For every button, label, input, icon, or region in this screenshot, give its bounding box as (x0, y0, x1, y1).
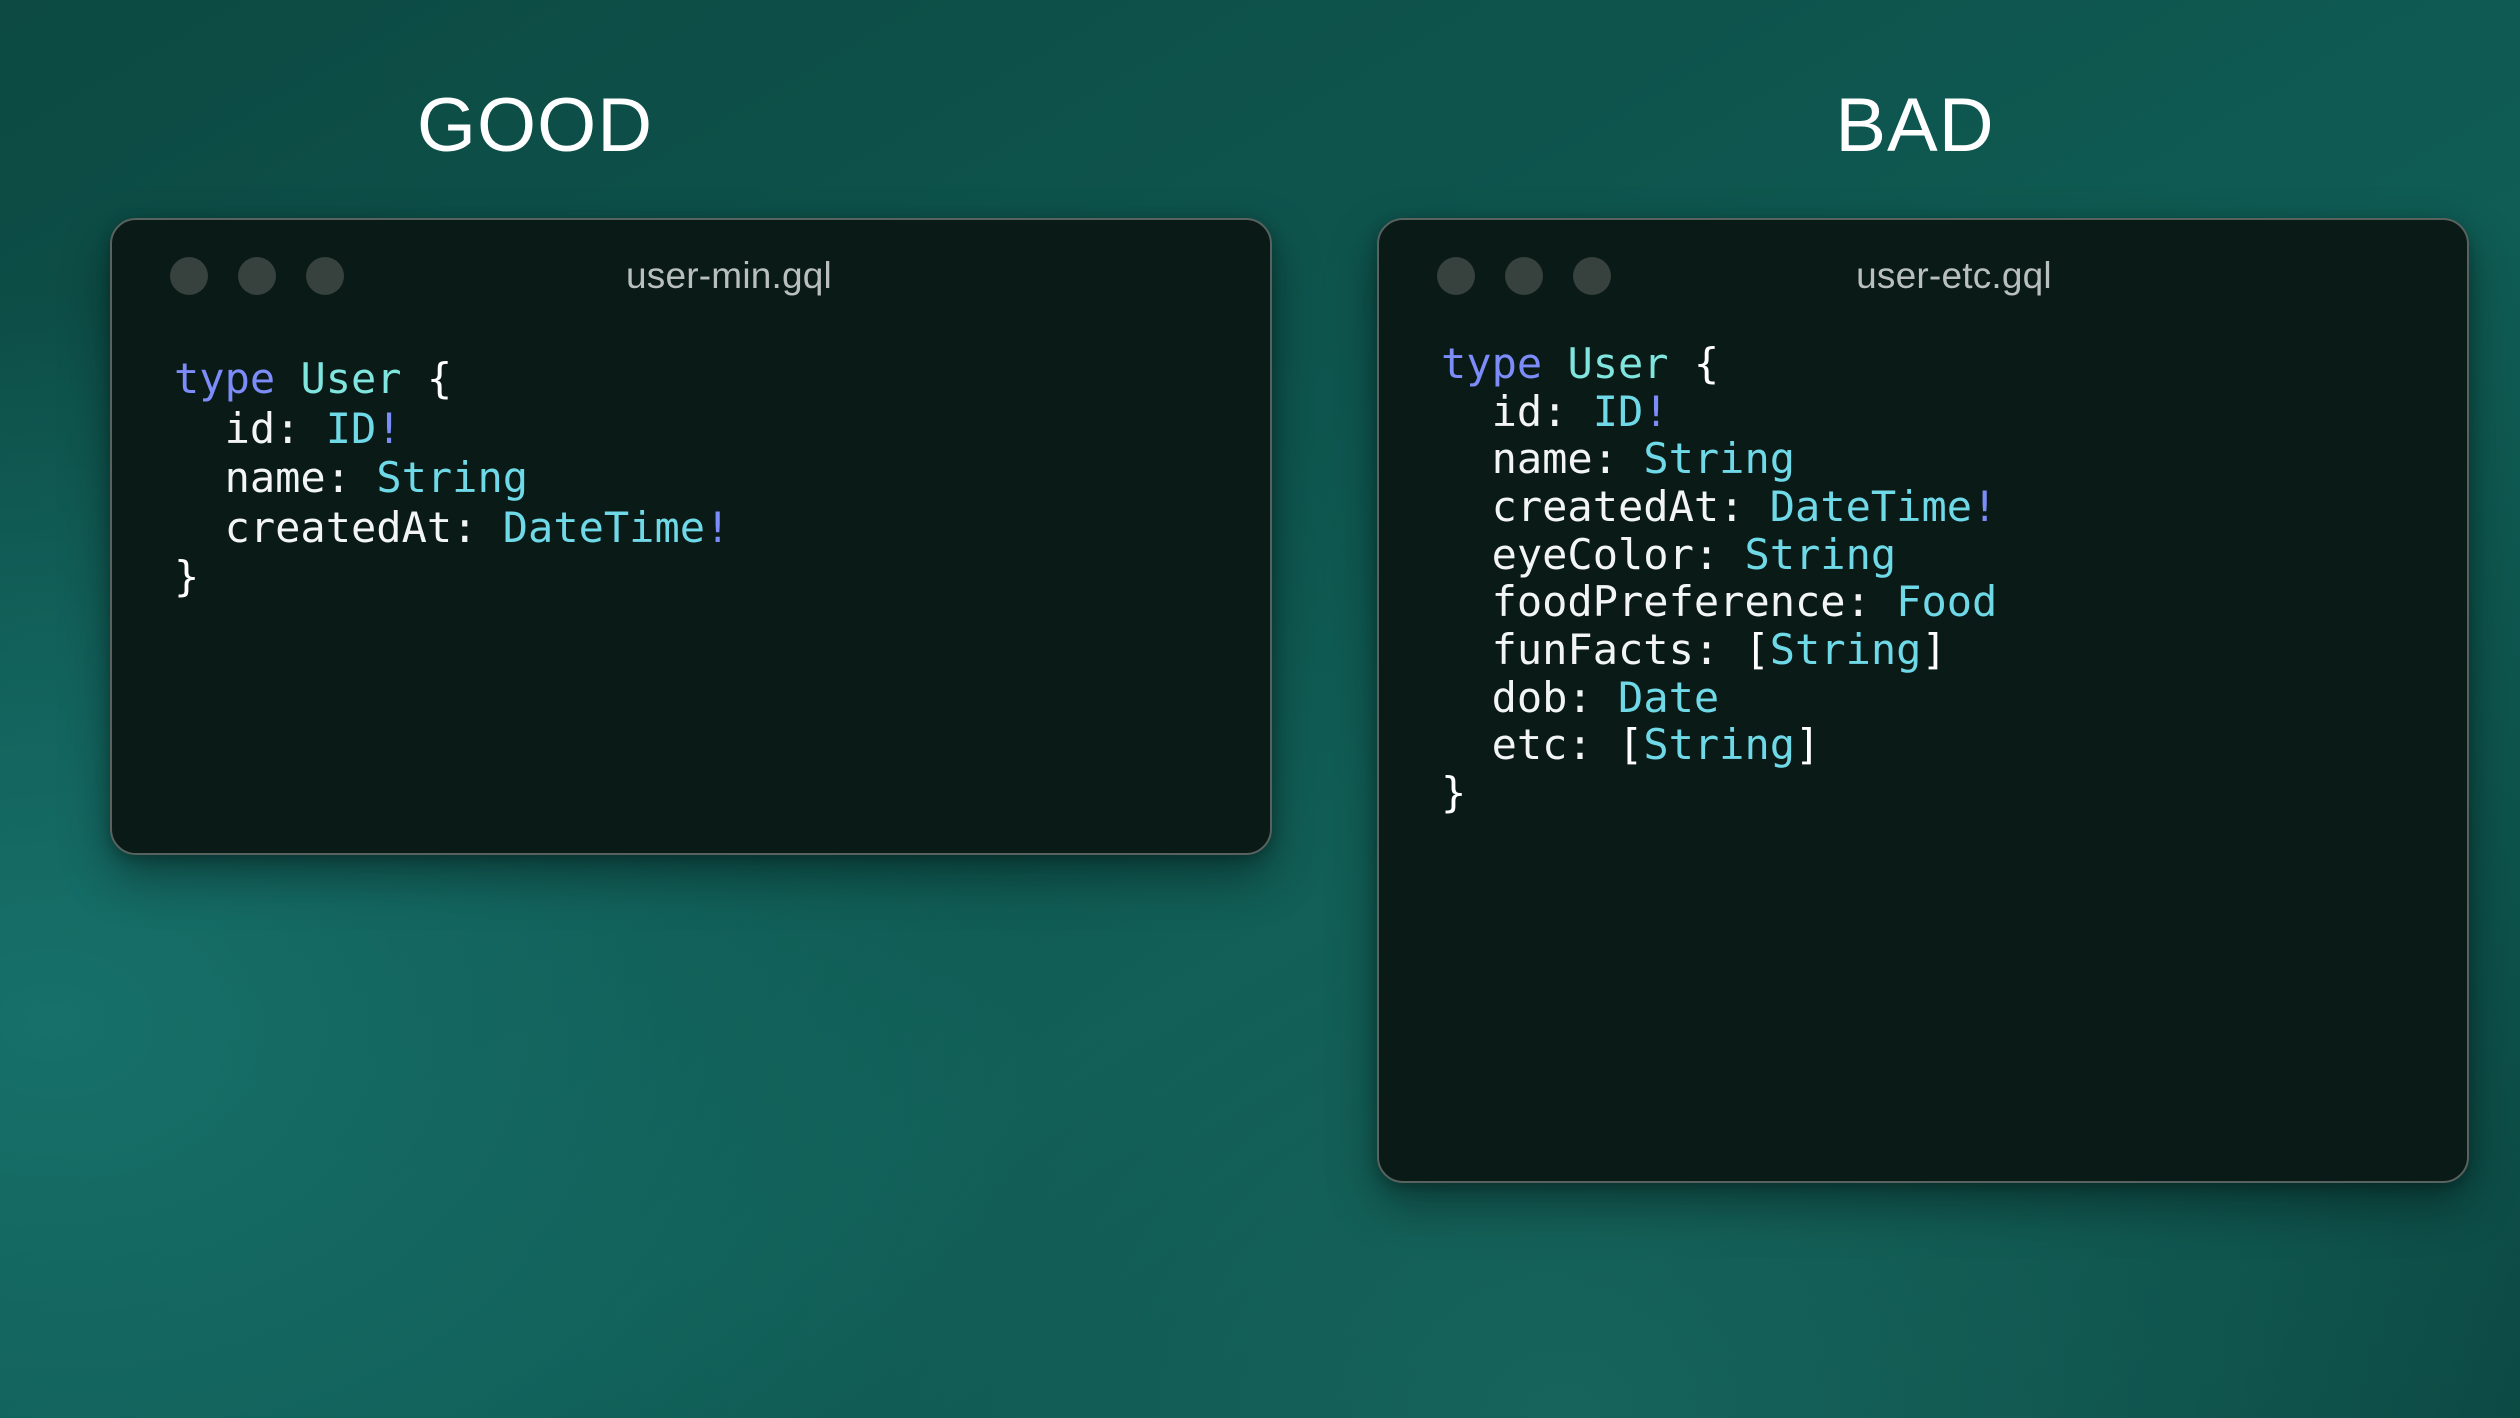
code-token-plain (1567, 387, 1592, 436)
code-line: funFacts: [String] (1441, 626, 2467, 674)
code-token-punct: } (1441, 768, 1466, 817)
code-line: type User { (174, 354, 1270, 404)
code-token-plain (1719, 530, 1744, 579)
code-token-plain (300, 404, 325, 453)
maximize-dot-icon[interactable] (306, 257, 344, 295)
code-token-field: etc: (1492, 720, 1593, 769)
code-token-type: Food (1896, 577, 1997, 626)
code-token-bracket: [ (1744, 625, 1769, 674)
code-line: type User { (1441, 340, 2467, 388)
bad-window-titlebar: user-etc.gql (1379, 220, 2467, 332)
code-token-type: Date (1618, 673, 1719, 722)
good-code-window: user-min.gql type User { id: ID! name: S… (110, 218, 1272, 855)
code-token-type: ID (326, 404, 377, 453)
code-token-type: ID (1593, 387, 1644, 436)
close-dot-icon[interactable] (170, 257, 208, 295)
code-token-plain (1744, 482, 1769, 531)
code-token-bang: ! (376, 404, 401, 453)
code-line: eyeColor: String (1441, 531, 2467, 579)
code-token-field: createdAt: (1492, 482, 1745, 531)
code-line: createdAt: DateTime! (174, 503, 1270, 553)
code-token-type: String (1643, 434, 1795, 483)
code-token-field: name: (1492, 434, 1618, 483)
code-token-punct: } (174, 552, 199, 601)
code-token-field: id: (225, 404, 301, 453)
code-token-plain (402, 354, 427, 403)
code-token-keyword: type (174, 354, 275, 403)
code-token-bracket: ] (1795, 720, 1820, 769)
code-token-keyword: type (1441, 339, 1542, 388)
code-line: createdAt: DateTime! (1441, 483, 2467, 531)
code-token-field: foodPreference: (1492, 577, 1871, 626)
code-token-type: String (1744, 530, 1896, 579)
minimize-dot-icon[interactable] (238, 257, 276, 295)
code-token-type: DateTime (503, 503, 705, 552)
comparison-stage: GOOD BAD user-min.gql type User { id: ID… (0, 0, 2520, 1418)
code-token-type: String (376, 453, 528, 502)
code-token-bracket: ] (1921, 625, 1946, 674)
code-line: id: ID! (1441, 388, 2467, 436)
code-token-bracket: [ (1618, 720, 1643, 769)
code-token-punct: { (1694, 339, 1719, 388)
code-line: } (174, 552, 1270, 602)
minimize-dot-icon[interactable] (1505, 257, 1543, 295)
code-token-field: eyeColor: (1492, 530, 1720, 579)
bad-code-window: user-etc.gql type User { id: ID! name: S… (1377, 218, 2469, 1183)
code-line: etc: [String] (1441, 721, 2467, 769)
code-token-field: createdAt: (225, 503, 478, 552)
code-token-plain (351, 453, 376, 502)
code-token-type: String (1770, 625, 1922, 674)
code-token-field: id: (1492, 387, 1568, 436)
code-line: name: String (1441, 435, 2467, 483)
close-dot-icon[interactable] (1437, 257, 1475, 295)
code-token-plain (1669, 339, 1694, 388)
code-token-plain (1542, 339, 1567, 388)
code-token-plain (1719, 625, 1744, 674)
code-line: id: ID! (174, 404, 1270, 454)
bad-code-block: type User { id: ID! name: String created… (1379, 332, 2467, 817)
code-token-plain (1871, 577, 1896, 626)
code-token-typename: User (1567, 339, 1668, 388)
code-line: dob: Date (1441, 674, 2467, 722)
code-token-plain (1593, 720, 1618, 769)
code-line: } (1441, 769, 2467, 817)
code-token-bang: ! (1643, 387, 1668, 436)
code-line: name: String (174, 453, 1270, 503)
code-token-field: name: (225, 453, 351, 502)
code-line: foodPreference: Food (1441, 578, 2467, 626)
maximize-dot-icon[interactable] (1573, 257, 1611, 295)
code-token-field: funFacts: (1492, 625, 1720, 674)
good-window-titlebar: user-min.gql (112, 220, 1270, 332)
code-token-plain (275, 354, 300, 403)
code-token-plain (1618, 434, 1643, 483)
code-token-punct: { (427, 354, 452, 403)
good-code-block: type User { id: ID! name: String created… (112, 332, 1270, 602)
good-window-filename: user-min.gql (188, 255, 1270, 297)
code-token-typename: User (300, 354, 401, 403)
code-token-bang: ! (705, 503, 730, 552)
good-heading: GOOD (417, 88, 653, 164)
code-token-type: DateTime (1770, 482, 1972, 531)
code-token-type: String (1643, 720, 1795, 769)
bad-heading: BAD (1835, 88, 1994, 164)
code-token-plain (1593, 673, 1618, 722)
code-token-bang: ! (1972, 482, 1997, 531)
good-traffic-lights (170, 257, 344, 295)
code-token-plain (477, 503, 502, 552)
bad-traffic-lights (1437, 257, 1611, 295)
code-token-field: dob: (1492, 673, 1593, 722)
